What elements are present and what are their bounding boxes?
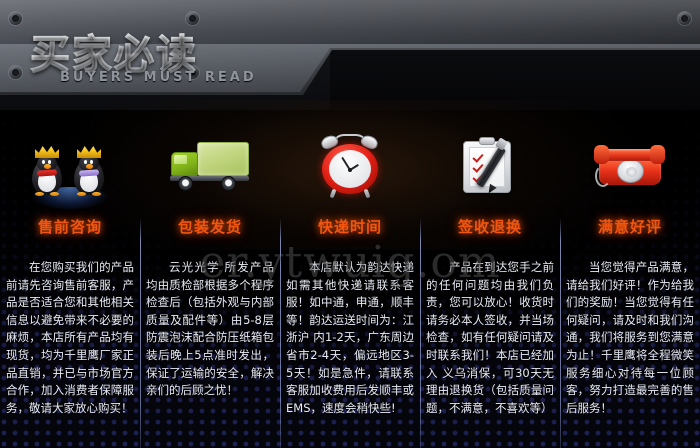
- buyers-must-read-banner: 买家必读 BUYERS MUST READ: [0, 0, 700, 448]
- column-title: 售前咨询: [6, 216, 134, 237]
- bolt-icon: [9, 12, 22, 25]
- bolt-icon: [9, 66, 22, 79]
- column-text: 在您购买我们的产品前请先咨询售前客服，产品是否适合您和其他相关信息以避免带来不必…: [6, 259, 134, 417]
- alarm-clock-icon: [286, 118, 414, 214]
- column-presale-consult: 售前咨询 在您购买我们的产品前请先咨询售前客服，产品是否适合您和其他相关信息以避…: [0, 110, 140, 448]
- column-delivery-time: 快递时间 本店默认为韵达快递如需其他快递请联系客服！如中通，申通，顺丰等！韵达运…: [280, 110, 420, 448]
- column-satisfaction-review: 满意好评 当您觉得产品满意，请给我们好评！作为给我们的奖励！当您觉得有任何疑问，…: [560, 110, 700, 448]
- column-text: 本店默认为韵达快递如需其他快递请联系客服！如中通，申通，顺丰等！韵达运送时间为：…: [286, 259, 414, 417]
- column-text: 当您觉得产品满意，请给我们好评！作为给我们的奖励！当您觉得有任何疑问，请及时和我…: [566, 259, 694, 417]
- column-title: 满意好评: [566, 216, 694, 237]
- column-text: 云光光学 所发产品均由质检部根据多个程序检查后（包括外观与内部质量及配件等）由5…: [146, 259, 274, 400]
- banner-body: 售前咨询 在您购买我们的产品前请先咨询售前客服，产品是否适合您和其他相关信息以避…: [0, 110, 700, 448]
- banner-title-en: BUYERS MUST READ: [60, 70, 257, 85]
- banner-header: 买家必读 BUYERS MUST READ: [0, 0, 700, 110]
- column-text: 产品在到达您手之前的任何问题均由我们负责，您可以放心！收货时请务必本人签收，并当…: [426, 259, 554, 417]
- column-title: 签收退换: [426, 216, 554, 237]
- telephone-icon: [566, 118, 694, 214]
- clipboard-check-pen-icon: [426, 118, 554, 214]
- column-packaging-shipping: 包装发货 云光光学 所发产品均由质检部根据多个程序检查后（包括外观与内部质量及配…: [140, 110, 280, 448]
- bolt-icon: [678, 12, 691, 25]
- column-title: 包装发货: [146, 216, 274, 237]
- column-title: 快递时间: [286, 216, 414, 237]
- column-sign-return: 签收退换 产品在到达您手之前的任何问题均由我们负责，您可以放心！收货时请务必本人…: [420, 110, 560, 448]
- qq-penguin-crown-icon: [6, 118, 134, 214]
- info-columns: 售前咨询 在您购买我们的产品前请先咨询售前客服，产品是否适合您和其他相关信息以避…: [0, 110, 700, 448]
- delivery-truck-icon: [146, 118, 274, 214]
